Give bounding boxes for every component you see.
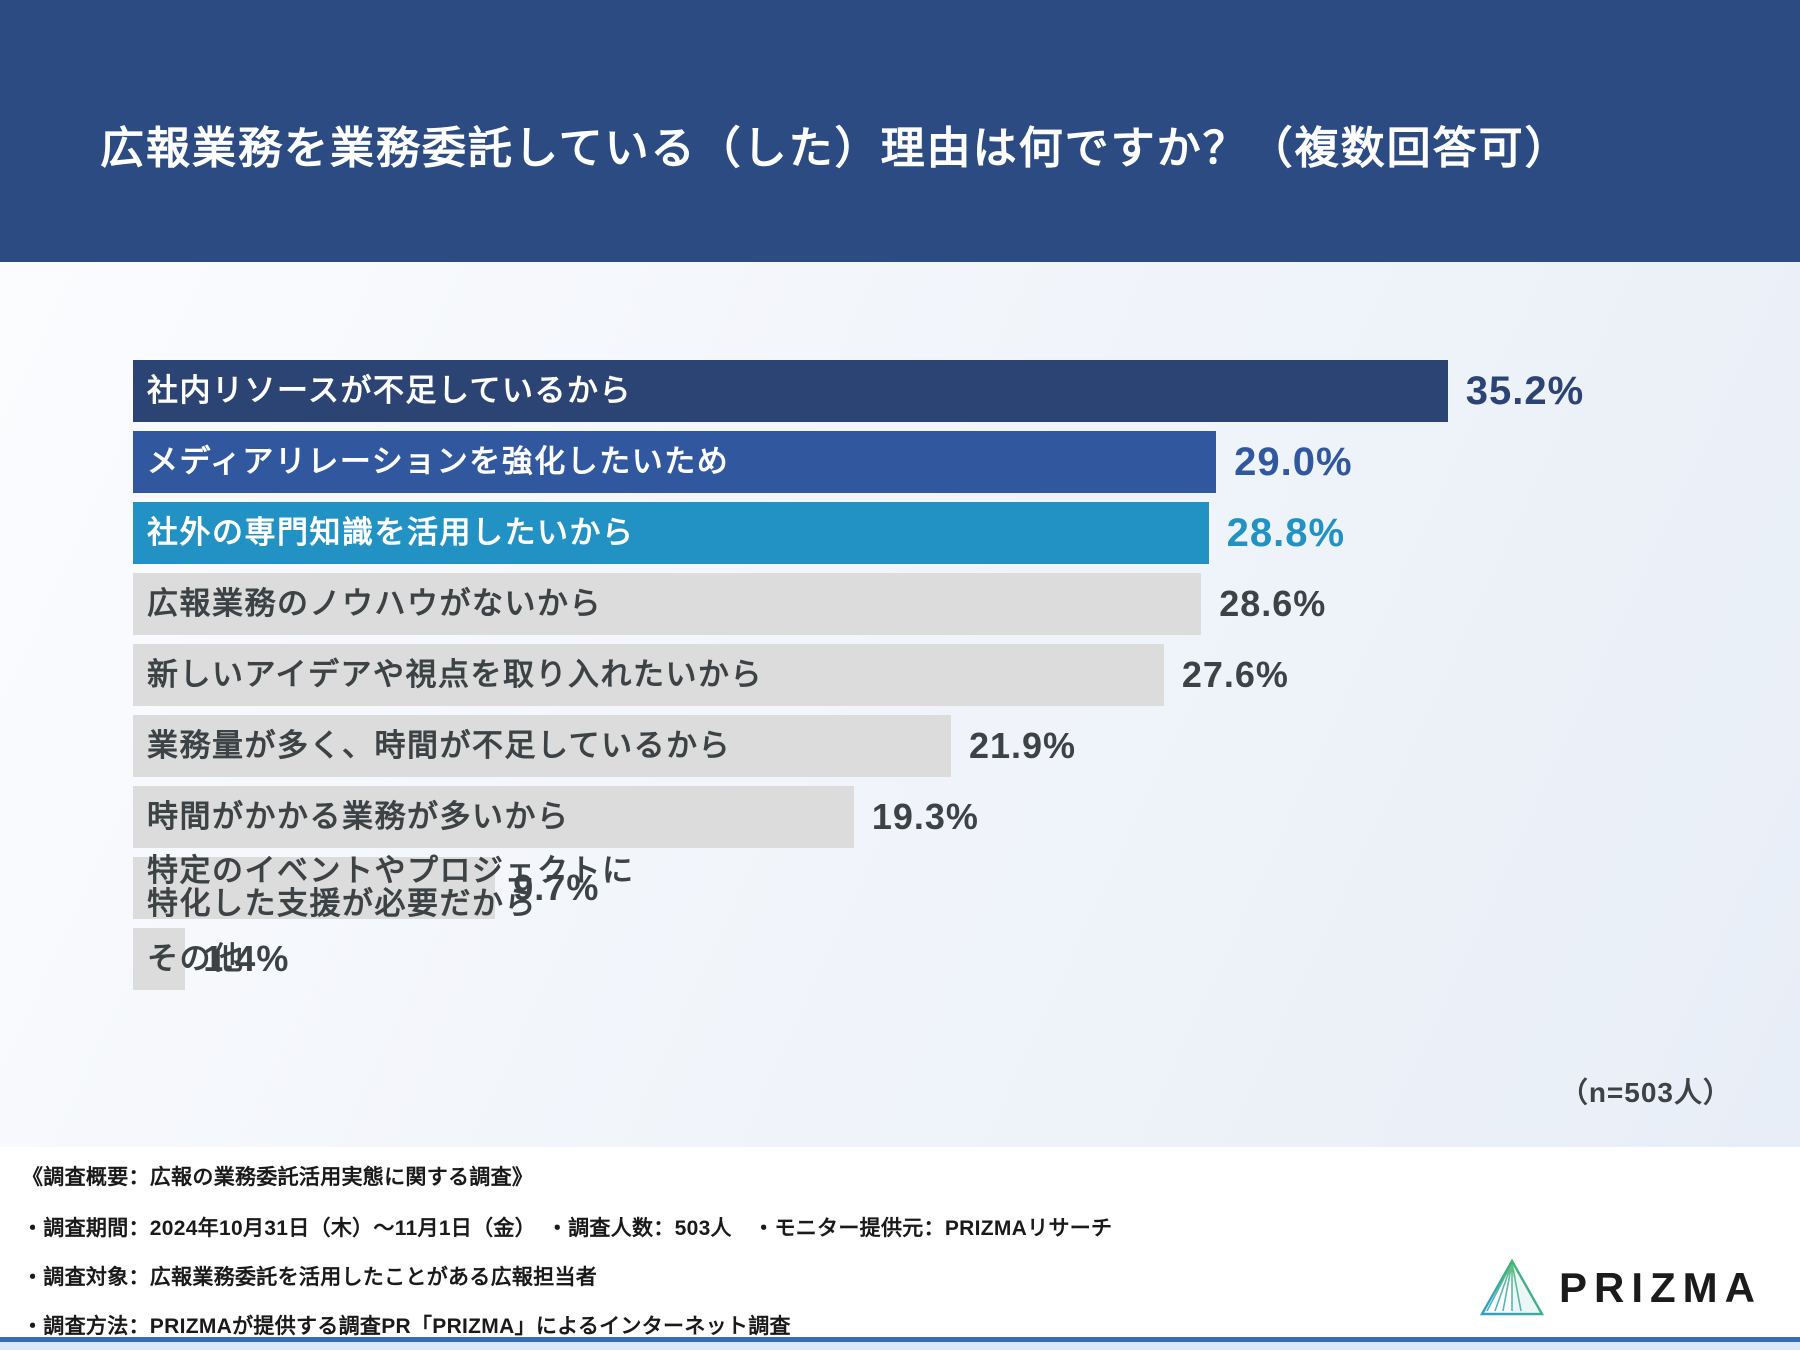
infographic-page: 広報業務を業務委託している（した）理由は何ですか？（複数回答可） 社内リソースが…	[0, 0, 1800, 1350]
bar-value-label: 28.6%	[1219, 573, 1326, 635]
bar-row: メディアリレーションを強化したいため29.0%	[133, 431, 1733, 493]
footer-line: ・調査方法：PRIZMAが提供する調査PR「PRIZMA」によるインターネット調…	[22, 1310, 1422, 1340]
bar-value-label: 27.6%	[1182, 644, 1289, 706]
page-title: 広報業務を業務委託している（した）理由は何ですか？（複数回答可）	[0, 86, 1571, 176]
header-banner: 広報業務を業務委託している（した）理由は何ですか？（複数回答可）	[0, 0, 1800, 262]
footer-line: ・調査対象：広報業務委託を活用したことがある広報担当者	[22, 1261, 1422, 1291]
bar-row: 特定のイベントやプロジェクトに 特化した支援が必要だから9.7%	[133, 857, 1733, 919]
bar-value-label: 21.9%	[969, 715, 1076, 777]
bar-chart: 社内リソースが不足しているから35.2%メディアリレーションを強化したいため29…	[133, 360, 1733, 999]
bar-row: 業務量が多く、時間が不足しているから21.9%	[133, 715, 1733, 777]
bar-row: 時間がかかる業務が多いから19.3%	[133, 786, 1733, 848]
bar-row: 社内リソースが不足しているから35.2%	[133, 360, 1733, 422]
chart-panel: 社内リソースが不足しているから35.2%メディアリレーションを強化したいため29…	[0, 262, 1800, 1147]
footer-line: ・調査期間：2024年10月31日（木）〜11月1日（金） ・調査人数：503人…	[22, 1212, 1422, 1242]
bar-value-label: 1.4%	[203, 928, 289, 990]
bar-category-label: 広報業務のノウハウがないから	[147, 573, 602, 635]
sample-size-note: （n=503人）	[1560, 1071, 1732, 1111]
bar-value-label: 28.8%	[1227, 502, 1345, 564]
bar-value-label: 9.7%	[513, 857, 599, 919]
bar-category-label: 新しいアイデアや視点を取り入れたいから	[147, 644, 763, 706]
bar-category-label: 業務量が多く、時間が不足しているから	[147, 715, 731, 777]
bar-row: その他1.4%	[133, 928, 1733, 990]
footer-line: 《調査概要：広報の業務委託活用実態に関する調査》	[22, 1161, 1422, 1191]
survey-summary: 《調査概要：広報の業務委託活用実態に関する調査》・調査期間：2024年10月31…	[22, 1161, 1422, 1359]
bar-row: 社外の専門知識を活用したいから28.8%	[133, 502, 1733, 564]
bar-category-label: メディアリレーションを強化したいため	[147, 431, 729, 493]
bar-value-label: 29.0%	[1234, 431, 1352, 493]
bar-category-label: 社外の専門知識を活用したいから	[147, 502, 635, 564]
bar-row: 新しいアイデアや視点を取り入れたいから27.6%	[133, 644, 1733, 706]
bar-category-label: 時間がかかる業務が多いから	[147, 786, 570, 848]
prizma-logo-text: PRIZMA	[1559, 1267, 1762, 1309]
bar-value-label: 35.2%	[1466, 360, 1584, 422]
prizma-triangle-logo-icon	[1479, 1258, 1545, 1318]
bar-category-label: 社内リソースが不足しているから	[147, 360, 632, 422]
prizma-logo: PRIZMA	[1479, 1258, 1762, 1318]
bottom-strip	[0, 1342, 1800, 1350]
bar-row: 広報業務のノウハウがないから28.6%	[133, 573, 1733, 635]
bar-value-label: 19.3%	[872, 786, 979, 848]
